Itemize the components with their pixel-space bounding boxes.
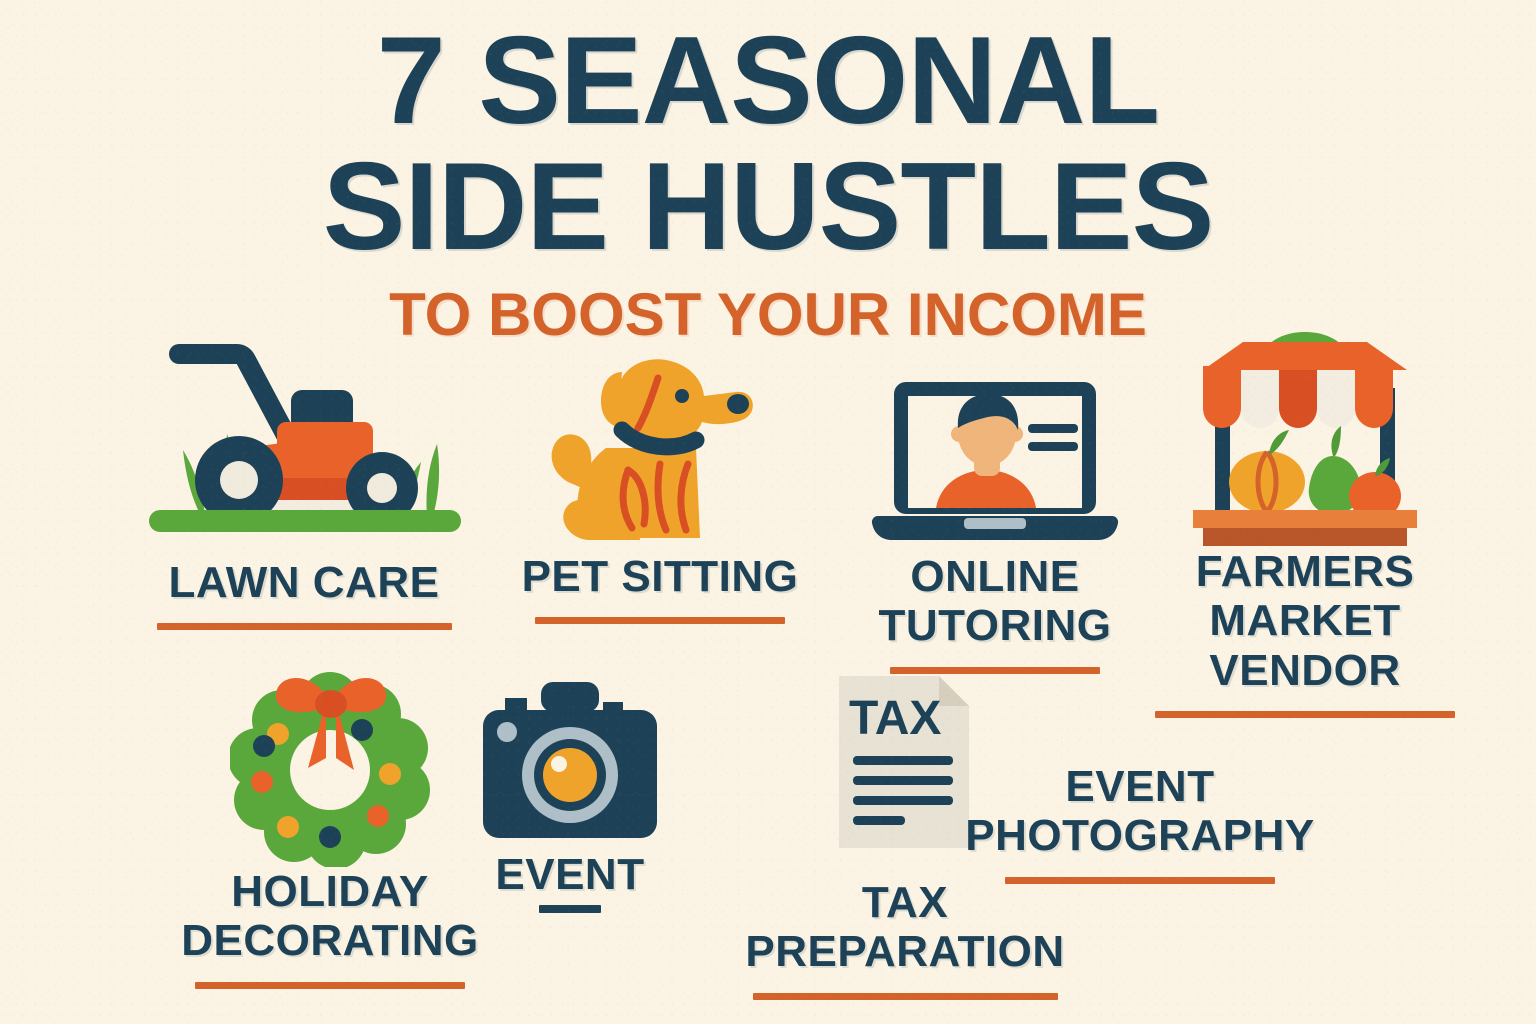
item-lawn-care: LAWN CARE <box>104 318 504 630</box>
camera-icon <box>455 678 685 850</box>
page-title-line-2: SIDE HUSTLES <box>0 144 1536 270</box>
item-farmers-market-vendor: FARMERS MARKET VENDOR <box>1155 332 1455 718</box>
item-label: EVENT <box>455 850 685 899</box>
label-rule <box>1005 877 1275 884</box>
label-rule <box>753 993 1058 1000</box>
label-rule <box>539 905 601 913</box>
item-online-tutoring: ONLINE TUTORING <box>845 372 1145 674</box>
item-pet-sitting: PET SITTING <box>480 352 840 624</box>
label-rule <box>535 617 785 624</box>
item-label: EVENT PHOTOGRAPHY <box>930 762 1350 861</box>
infographic-poster: 7 SEASONAL SIDE HUSTLES TO BOOST YOUR IN… <box>0 0 1536 1024</box>
svg-text:TAX: TAX <box>849 692 941 745</box>
label-rule <box>157 623 452 630</box>
label-rule <box>195 982 465 989</box>
item-label: LAWN CARE <box>104 558 504 607</box>
item-event-photography: EVENT PHOTOGRAPHY <box>930 762 1350 884</box>
item-label: PET SITTING <box>480 552 840 601</box>
item-event: EVENT <box>455 678 685 913</box>
lawn-mower-icon <box>104 318 504 558</box>
page-title-line-1: 7 SEASONAL <box>0 18 1536 144</box>
item-label: TAX PREPARATION <box>690 878 1120 977</box>
market-stall-icon <box>1155 332 1455 547</box>
item-label: ONLINE TUTORING <box>845 552 1145 651</box>
sitting-dog-icon <box>480 352 840 552</box>
label-rule <box>1155 711 1455 718</box>
item-label: FARMERS MARKET VENDOR <box>1155 547 1455 695</box>
header-block: 7 SEASONAL SIDE HUSTLES TO BOOST YOUR IN… <box>0 18 1536 345</box>
laptop-video-call-icon <box>845 372 1145 552</box>
